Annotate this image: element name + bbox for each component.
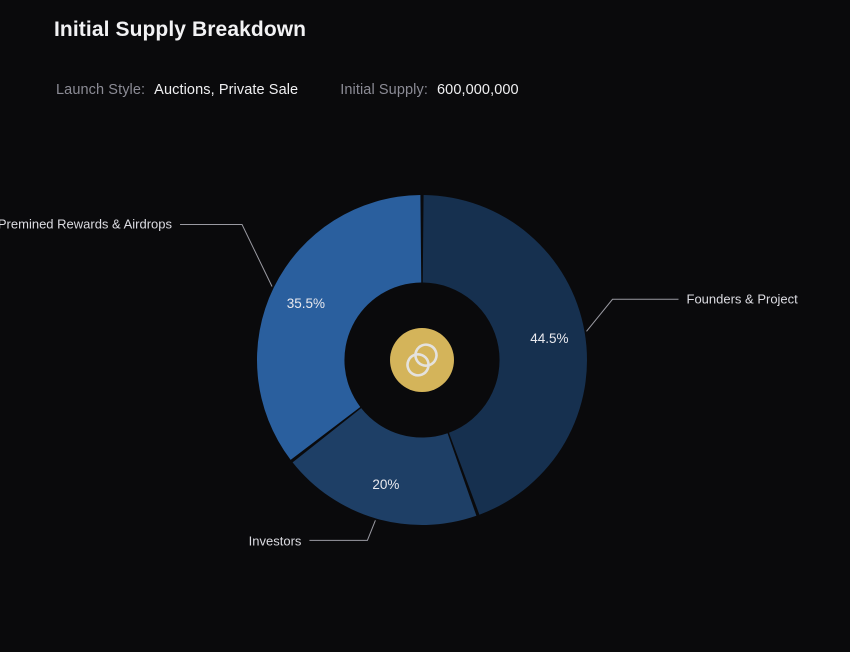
slice-percent-label: 44.5% <box>530 331 568 346</box>
metadata-row: Launch Style: Auctions, Private Sale Ini… <box>56 82 519 98</box>
donut-svg: 44.5%20%35.5% Founders & ProjectInvestor… <box>0 118 850 618</box>
page-title: Initial Supply Breakdown <box>54 18 306 42</box>
launch-style-field: Launch Style: Auctions, Private Sale <box>56 82 298 98</box>
initial-supply-breakdown-panel: Initial Supply Breakdown Launch Style: A… <box>0 0 850 652</box>
slice-percent-label: 20% <box>372 477 399 492</box>
initial-supply-value: 600,000,000 <box>437 82 519 98</box>
slice-name-label: Premined Rewards & Airdrops <box>0 217 173 232</box>
supply-donut-chart: 44.5%20%35.5% Founders & ProjectInvestor… <box>0 118 850 618</box>
slice-name-label: Founders & Project <box>687 291 799 306</box>
leader-line <box>309 520 375 540</box>
launch-style-value: Auctions, Private Sale <box>154 82 298 98</box>
leader-line <box>180 225 272 287</box>
center-logo <box>390 328 454 392</box>
donut-slice[interactable] <box>257 195 421 460</box>
launch-style-label: Launch Style: <box>56 82 145 98</box>
initial-supply-label: Initial Supply: <box>340 82 428 98</box>
slice-percent-label: 35.5% <box>287 296 325 311</box>
leader-line <box>587 299 679 331</box>
slice-name-label: Investors <box>249 533 302 548</box>
initial-supply-field: Initial Supply: 600,000,000 <box>340 82 519 98</box>
logo-disc <box>390 328 454 392</box>
